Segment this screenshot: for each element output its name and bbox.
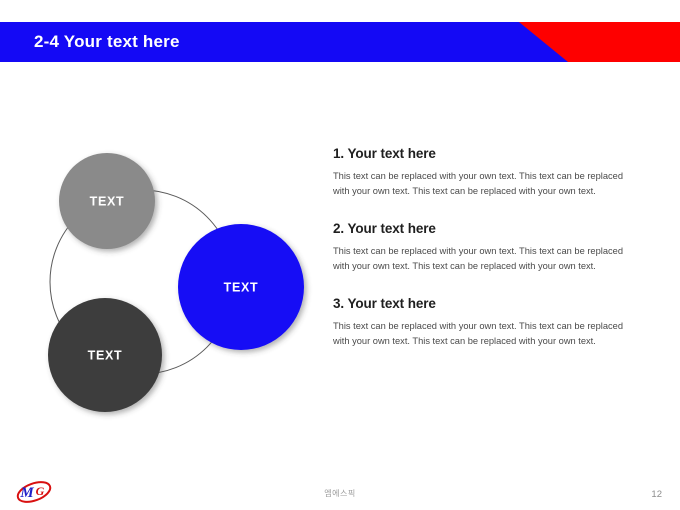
content-block-3: 3. Your text here This text can be repla…: [333, 296, 623, 349]
content-block-3-body: This text can be replaced with your own …: [333, 319, 623, 349]
footer-center-text: 엠에스픽: [0, 488, 680, 499]
circle-darkgray[interactable]: TEXT: [48, 298, 162, 412]
page-title: 2-4 Your text here: [34, 29, 180, 55]
slide-canvas: 2-4 Your text here TEXT TEXT: [0, 0, 680, 510]
circle-gray-label: TEXT: [90, 194, 125, 208]
content-block-2-heading: 2. Your text here: [333, 221, 623, 236]
circle-blue-label: TEXT: [224, 280, 259, 294]
content-column: 1. Your text here This text can be repla…: [333, 146, 623, 349]
circle-blue[interactable]: TEXT: [178, 224, 304, 350]
content-block-2: 2. Your text here This text can be repla…: [333, 221, 623, 274]
content-block-1-heading: 1. Your text here: [333, 146, 623, 161]
circles-diagram: TEXT TEXT TEXT: [20, 130, 330, 430]
content-block-3-heading: 3. Your text here: [333, 296, 623, 311]
circle-gray[interactable]: TEXT: [59, 153, 155, 249]
page-number: 12: [651, 489, 662, 500]
content-block-2-body: This text can be replaced with your own …: [333, 244, 623, 274]
circle-darkgray-label: TEXT: [88, 348, 123, 362]
content-block-1-body: This text can be replaced with your own …: [333, 169, 623, 199]
content-block-1: 1. Your text here This text can be repla…: [333, 146, 623, 199]
